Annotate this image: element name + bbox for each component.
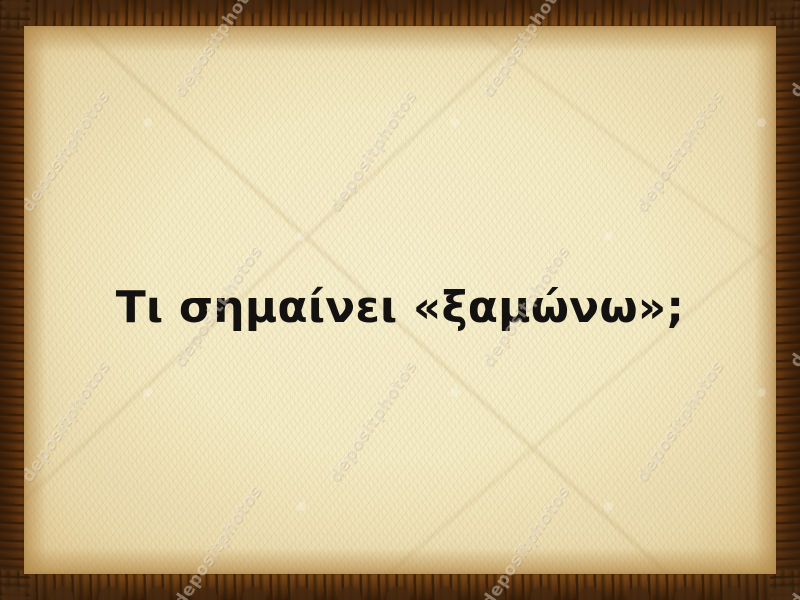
slide-canvas: Τι σημαίνει «ξαμώνω»; depositphotosdepos… bbox=[0, 0, 800, 600]
headline-layer: Τι σημαίνει «ξαμώνω»; bbox=[0, 0, 800, 600]
slide-headline: Τι σημαίνει «ξαμώνω»; bbox=[116, 284, 684, 332]
